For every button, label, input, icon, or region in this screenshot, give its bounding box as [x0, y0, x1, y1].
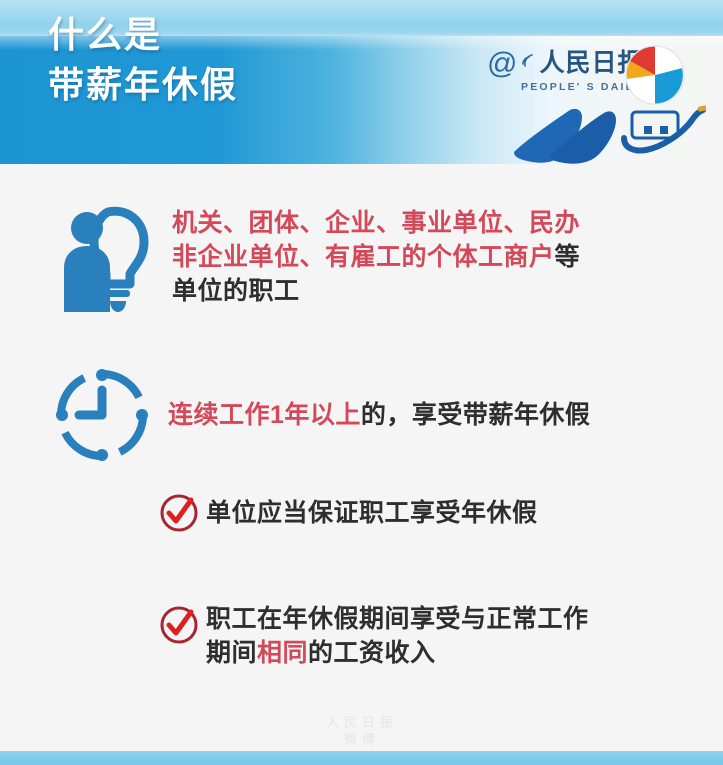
row1-line-1: 机关、团体、企业、事业单位、民办 — [172, 206, 580, 240]
content-row-wages: 职工在年休假期间享受与正常工作 期间相同的工资收入 — [158, 602, 698, 670]
wifi-signal-icon — [521, 52, 535, 74]
row2-line-1: 连续工作1年以上的，享受带薪年休假 — [168, 398, 590, 432]
row3-line-1: 单位应当保证职工享受年休假 — [206, 496, 538, 530]
row-text-guarantee: 单位应当保证职工享受年休假 — [206, 496, 538, 530]
clock-icon — [52, 368, 152, 462]
infographic-poster: 什么是 带薪年休假 @ 人民日报 PEOPLE' S DAILY — [0, 0, 723, 765]
row1-line-2: 非企业单位、有雇工的个体工商户等 — [172, 240, 580, 274]
content-row-guarantee: 单位应当保证职工享受年休假 — [158, 492, 698, 534]
check-circle-icon — [158, 604, 200, 646]
swim-fins-snorkel-icon — [506, 104, 706, 168]
row4-line-2: 期间相同的工资收入 — [206, 636, 589, 670]
bottom-blue-strip — [0, 751, 723, 765]
person-bulb-icon — [56, 202, 152, 314]
title-line-2: 带薪年休假 — [48, 64, 238, 106]
watermark-line-2: 微博 — [252, 731, 472, 748]
watermark-line-1: 人民日报 — [252, 714, 472, 731]
watermark: 人民日报 微博 — [252, 714, 472, 748]
row4-line-1: 职工在年休假期间享受与正常工作 — [206, 602, 589, 636]
at-symbol-icon: @ — [487, 49, 517, 79]
title-line-1: 什么是 — [48, 14, 238, 56]
content-row-tenure: 连续工作1年以上的，享受带薪年休假 — [52, 368, 712, 462]
beach-ball-icon — [624, 44, 686, 106]
row1-line-3: 单位的职工 — [172, 274, 580, 308]
row-text-wages: 职工在年休假期间享受与正常工作 期间相同的工资收入 — [206, 602, 589, 670]
row-text-tenure: 连续工作1年以上的，享受带薪年休假 — [168, 398, 590, 432]
check-circle-icon — [158, 492, 200, 534]
row-text-employees: 机关、团体、企业、事业单位、民办 非企业单位、有雇工的个体工商户等 单位的职工 — [172, 206, 580, 308]
page-title: 什么是 带薪年休假 — [48, 14, 238, 106]
content-row-employees: 机关、团体、企业、事业单位、民办 非企业单位、有雇工的个体工商户等 单位的职工 — [56, 202, 696, 314]
